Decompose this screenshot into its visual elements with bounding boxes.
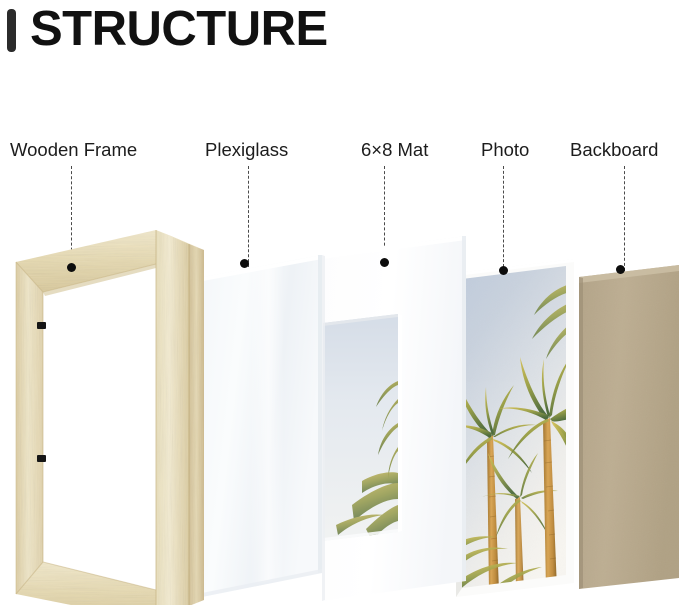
page-header: STRUCTURE — [0, 0, 679, 90]
label-mat: 6×8 Mat — [361, 139, 428, 161]
backboard-shape — [571, 248, 679, 605]
leader-dot-backboard — [616, 265, 625, 274]
leader-dot-mat — [380, 258, 389, 267]
layer-backboard — [571, 248, 679, 605]
frame-clip-lower — [37, 455, 46, 462]
leader-dot-photo — [499, 266, 508, 275]
leader-dot-plexiglass — [240, 259, 249, 268]
structure-diagram-page: STRUCTURE Wooden Frame Plexiglass 6×8 Ma… — [0, 0, 679, 605]
leader-dot-wooden-frame — [67, 263, 76, 272]
label-plexiglass: Plexiglass — [205, 139, 288, 161]
label-photo: Photo — [481, 139, 529, 161]
accent-bar — [7, 9, 16, 52]
frame-clip-upper — [37, 322, 46, 329]
mat-shape — [322, 233, 474, 605]
layer-wooden-frame — [6, 222, 218, 605]
label-wooden-frame: Wooden Frame — [10, 139, 137, 161]
label-backboard: Backboard — [570, 139, 658, 161]
layer-mat — [322, 233, 474, 605]
wooden-frame-shape — [6, 222, 218, 605]
page-title: STRUCTURE — [30, 0, 328, 58]
